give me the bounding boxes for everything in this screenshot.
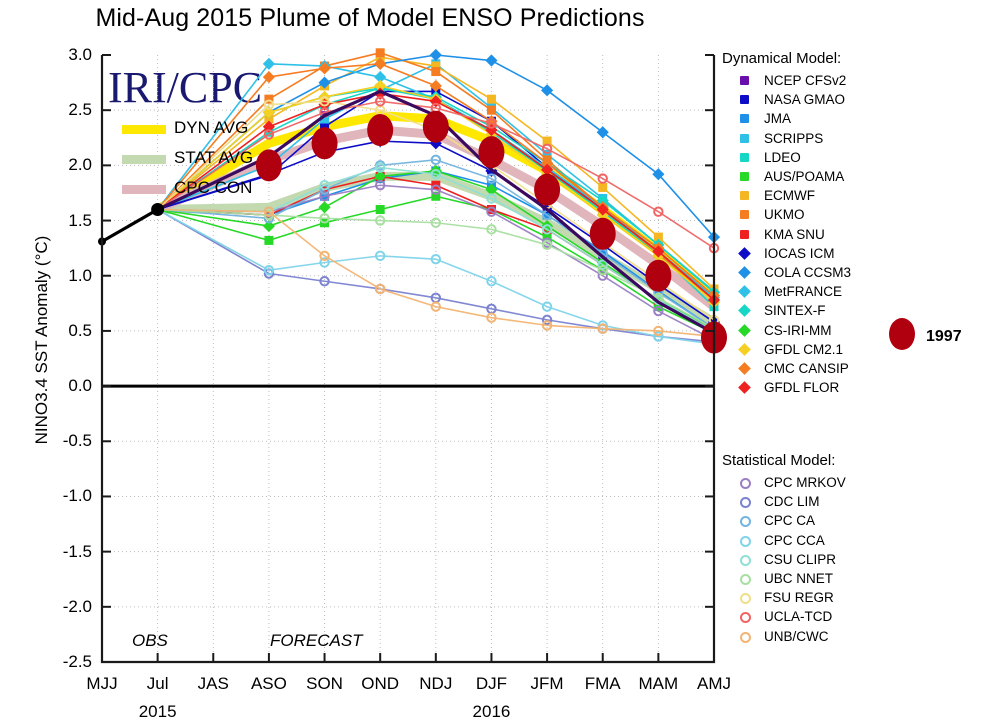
series-aus-poama-marker xyxy=(376,205,385,214)
annotation-forecast: FORECAST xyxy=(270,631,363,651)
dynamical-legend-heading: Dynamical Model: xyxy=(722,50,841,67)
x-tick-label: MJJ xyxy=(74,674,130,694)
legend-label-iocas-icm[interactable]: IOCAS ICM xyxy=(764,246,835,261)
avg-legend-swatch xyxy=(122,125,166,134)
legend-label-cpc-cca[interactable]: CPC CCA xyxy=(764,533,825,548)
legend-marker-unb-cwc xyxy=(740,632,751,643)
year-1997-marker xyxy=(312,127,338,159)
series-cs-iri-mm-marker xyxy=(318,201,330,213)
legend-label-ubc-nnet[interactable]: UBC NNET xyxy=(764,571,833,586)
legend-label-scripps[interactable]: SCRIPPS xyxy=(764,131,823,146)
legend-label-ldeo[interactable]: LDEO xyxy=(764,150,801,165)
annotation-obs: OBS xyxy=(132,631,168,651)
x-tick-label: FMA xyxy=(575,674,631,694)
enso-plume-chart: Mid-Aug 2015 Plume of Model ENSO Predict… xyxy=(0,0,986,713)
y-tick-label: -1.5 xyxy=(48,542,92,562)
avg-legend-label: STAT AVG xyxy=(174,148,253,168)
x-tick-label: JAS xyxy=(185,674,241,694)
legend-label-jma[interactable]: JMA xyxy=(764,111,791,126)
legend-marker-aus-poama xyxy=(740,172,749,181)
observation-anchor-point xyxy=(151,203,164,216)
series-ecmwf-marker xyxy=(487,95,496,104)
legend-marker-scripps xyxy=(740,134,749,143)
year-1997-marker xyxy=(256,149,282,181)
x-year-label: 2016 xyxy=(456,702,526,722)
legend-label-cpc-ca[interactable]: CPC CA xyxy=(764,513,815,528)
legend-label-unb-cwc[interactable]: UNB/CWC xyxy=(764,629,829,644)
legend-marker-kma-snu xyxy=(740,230,749,239)
y-tick-label: -1.0 xyxy=(48,486,92,506)
year-1997-marker xyxy=(367,114,393,146)
x-year-label: 2015 xyxy=(123,702,193,722)
y-tick-label: 2.5 xyxy=(48,100,92,120)
legend-marker-ukmo xyxy=(740,210,749,219)
legend-marker-jma xyxy=(740,114,749,123)
legend-label-cmc-cansip[interactable]: CMC CANSIP xyxy=(764,361,849,376)
x-tick-label: ASO xyxy=(241,674,297,694)
series-cola-ccsm3-marker xyxy=(597,126,609,138)
avg-legend-label: DYN AVG xyxy=(174,118,248,138)
series-aus-poama-marker xyxy=(264,236,273,245)
legend-marker-ecmwf xyxy=(740,191,749,200)
observation-line xyxy=(102,210,158,242)
x-tick-label: SON xyxy=(297,674,353,694)
legend-label-ncep-cfsv2[interactable]: NCEP CFSv2 xyxy=(764,73,846,88)
year-1997-label: 1997 xyxy=(926,328,962,346)
year-1997-marker xyxy=(590,218,616,250)
legend-label-ecmwf[interactable]: ECMWF xyxy=(764,188,815,203)
legend-label-cpc-mrkov[interactable]: CPC MRKOV xyxy=(764,475,846,490)
legend-label-ukmo[interactable]: UKMO xyxy=(764,207,805,222)
y-tick-label: 0.0 xyxy=(48,376,92,396)
x-tick-label: JFM xyxy=(519,674,575,694)
x-tick-label: DJF xyxy=(463,674,519,694)
y-tick-label: 1.0 xyxy=(48,266,92,286)
legend-marker-cpc-cca xyxy=(740,536,751,547)
legend-marker-ubc-nnet xyxy=(740,574,751,585)
series-cola-ccsm3-marker xyxy=(485,54,497,66)
avg-legend-swatch xyxy=(122,185,166,194)
y-tick-label: 2.0 xyxy=(48,155,92,175)
series-ukmo-marker xyxy=(431,67,440,76)
y-tick-label: -0.5 xyxy=(48,431,92,451)
x-tick-label: NDJ xyxy=(408,674,464,694)
series-cola-ccsm3-marker xyxy=(541,84,553,96)
x-tick-label: OND xyxy=(352,674,408,694)
year-1997-marker xyxy=(645,260,671,292)
legend-marker-ncep-cfsv2 xyxy=(740,76,749,85)
legend-label-sintex-f[interactable]: SINTEX-F xyxy=(764,303,826,318)
avg-legend-label: CPC CON xyxy=(174,178,252,198)
year-1997-marker xyxy=(478,136,504,168)
legend-label-kma-snu[interactable]: KMA SNU xyxy=(764,227,825,242)
year-1997-marker xyxy=(534,174,560,206)
legend-label-nasa-gmao[interactable]: NASA GMAO xyxy=(764,92,845,107)
legend-marker-cpc-mrkov xyxy=(740,478,751,489)
legend-label-cs-iri-mm[interactable]: CS-IRI-MM xyxy=(764,323,832,338)
y-tick-label: -2.5 xyxy=(48,652,92,672)
avg-legend-swatch xyxy=(122,155,166,164)
legend-label-ucla-tcd[interactable]: UCLA-TCD xyxy=(764,609,832,624)
y-tick-label: -2.0 xyxy=(48,597,92,617)
legend-label-cdc-lim[interactable]: CDC LIM xyxy=(764,494,820,509)
legend-label-gfdl-flor[interactable]: GFDL FLOR xyxy=(764,380,839,395)
statistical-legend-heading: Statistical Model: xyxy=(722,452,835,469)
series-ukmo-marker xyxy=(487,106,496,115)
legend-marker-ldeo xyxy=(740,153,749,162)
legend-label-metfrance[interactable]: MetFRANCE xyxy=(764,284,842,299)
legend-label-fsu-regr[interactable]: FSU REGR xyxy=(764,590,834,605)
y-tick-label: 1.5 xyxy=(48,211,92,231)
legend-marker-csu-clipr xyxy=(740,555,751,566)
x-tick-label: MAM xyxy=(630,674,686,694)
x-tick-label: AMJ xyxy=(686,674,742,694)
legend-marker-nasa-gmao xyxy=(740,95,749,104)
series-ukmo-marker xyxy=(376,48,385,57)
series-cola-ccsm3-marker xyxy=(430,49,442,61)
legend-label-csu-clipr[interactable]: CSU CLIPR xyxy=(764,552,836,567)
y-tick-label: 3.0 xyxy=(48,45,92,65)
year-1997-key-marker xyxy=(889,318,915,350)
legend-label-cola-ccsm3[interactable]: COLA CCSM3 xyxy=(764,265,851,280)
series-ecmwf-marker xyxy=(598,183,607,192)
year-1997-marker xyxy=(423,111,449,143)
legend-label-aus-poama[interactable]: AUS/POAMA xyxy=(764,169,844,184)
x-tick-label: Jul xyxy=(130,674,186,694)
legend-label-gfdl-cm2-1[interactable]: GFDL CM2.1 xyxy=(764,342,843,357)
y-tick-label: 0.5 xyxy=(48,321,92,341)
